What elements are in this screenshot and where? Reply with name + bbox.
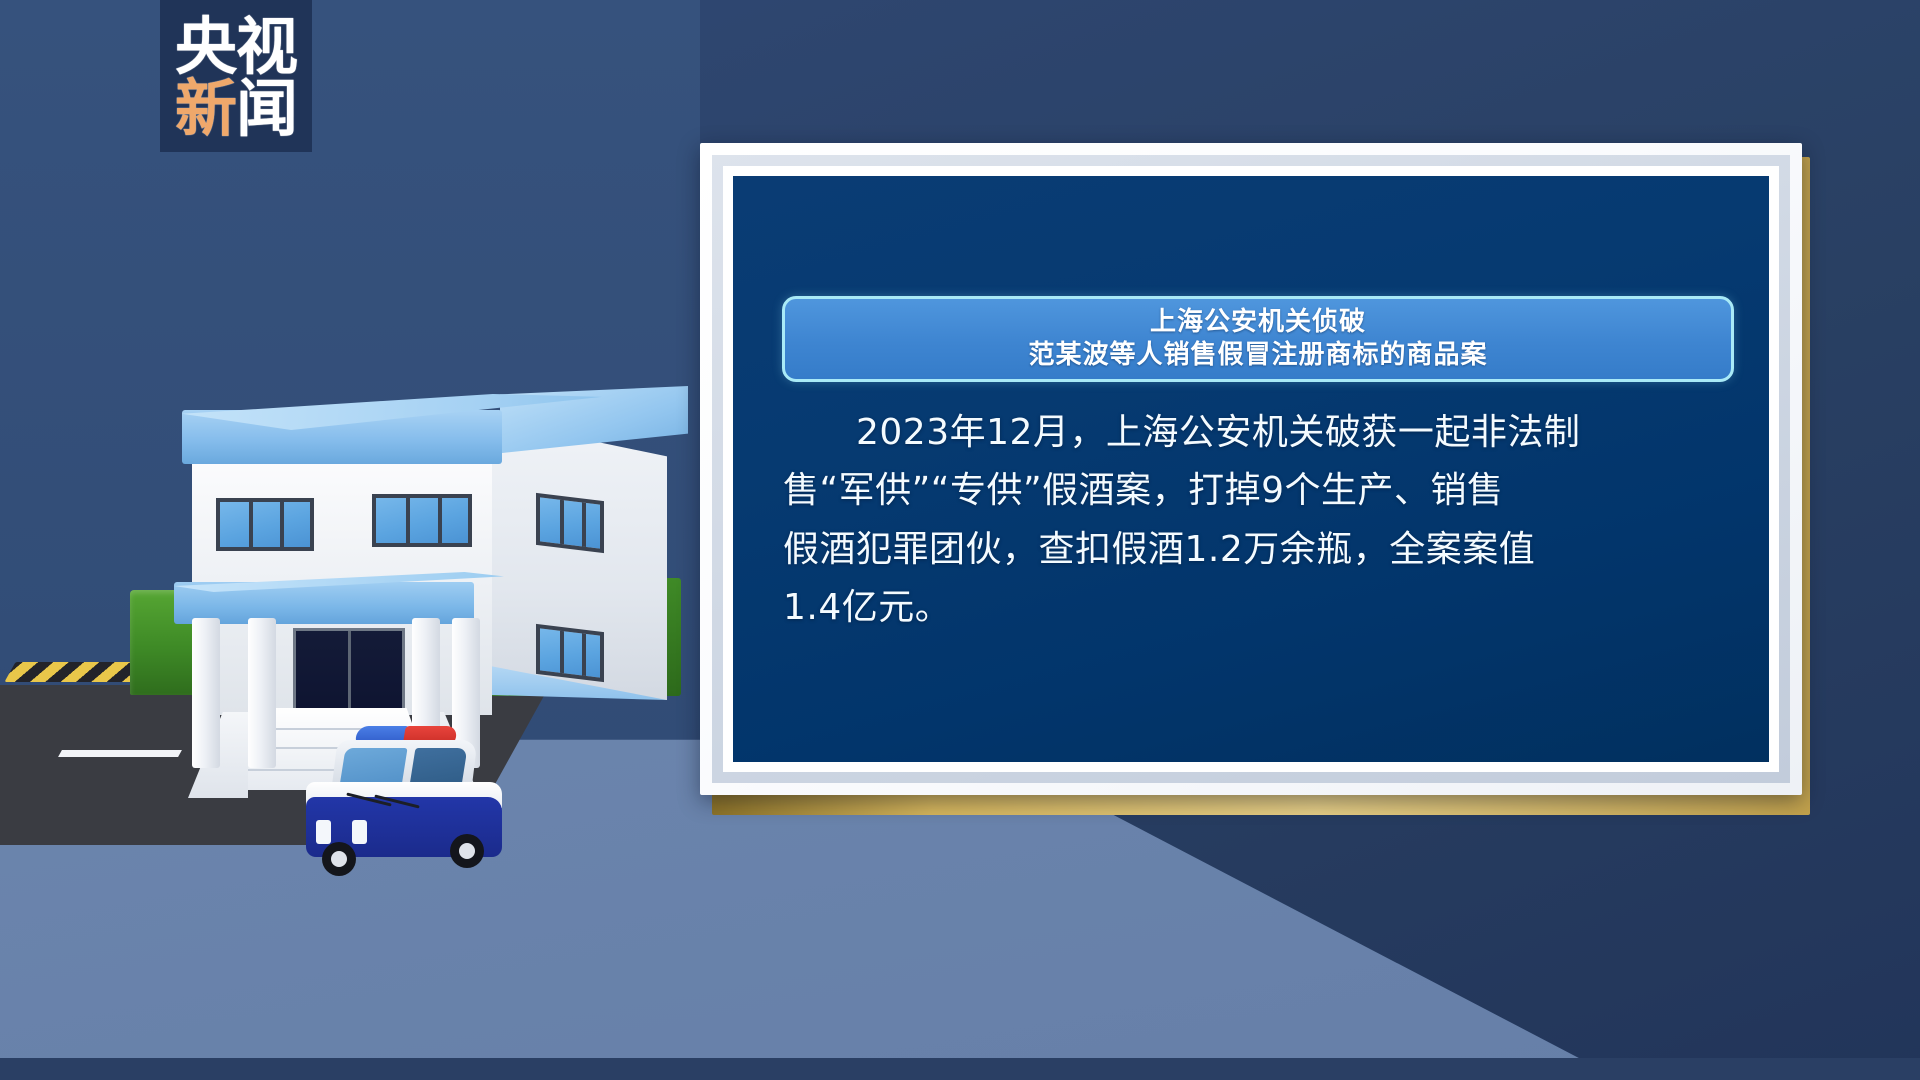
case-body-line: 1.4亿元。 <box>783 579 1743 637</box>
case-title-line-2: 范某波等人销售假冒注册商标的商品案 <box>1028 339 1487 372</box>
window-upper-left <box>216 498 314 551</box>
logo-line-1: 央 视 <box>175 16 297 78</box>
case-body-line: 售“军供”“专供”假酒案，打掉9个生产、销售 <box>783 462 1743 520</box>
police-station-illustration <box>130 390 750 890</box>
case-title-banner: 上海公安机关侦破 范某波等人销售假冒注册商标的商品案 <box>782 296 1734 382</box>
case-body-line: 假酒犯罪团伙，查扣假酒1.2万余瓶，全案案值 <box>783 521 1743 579</box>
headlight-left <box>316 820 331 844</box>
broadcast-graphic-stage: 央 视 新 闻 <box>0 0 1920 1080</box>
logo-char-wen: 闻 <box>236 78 297 140</box>
case-body-text: 2023年12月，上海公安机关破获一起非法制 售“军供”“专供”假酒案，打掉9个… <box>783 404 1743 637</box>
logo-char-yang: 央 <box>175 16 236 78</box>
panel-screen: 上海公安机关侦破 范某波等人销售假冒注册商标的商品案 2023年12月，上海公安… <box>733 176 1769 762</box>
pillar-left <box>192 618 220 768</box>
wheel-front <box>322 842 356 876</box>
headlight-right <box>352 820 367 844</box>
panel-frame-mid: 上海公安机关侦破 范某波等人销售假冒注册商标的商品案 2023年12月，上海公安… <box>712 155 1790 783</box>
case-title-line-1: 上海公安机关侦破 <box>1150 306 1366 339</box>
case-body-line: 2023年12月，上海公安机关破获一起非法制 <box>783 404 1743 462</box>
window-side-lower <box>536 624 604 682</box>
police-car <box>298 742 518 877</box>
window-upper-right <box>372 494 472 547</box>
cctv-news-logo: 央 视 新 闻 <box>160 0 312 152</box>
window-side-upper <box>536 493 604 553</box>
background-bottom-strip <box>0 1058 1920 1080</box>
pillar-mid-left <box>248 618 276 768</box>
logo-char-shi: 视 <box>236 16 297 78</box>
panel-frame-inner: 上海公安机关侦破 范某波等人销售假冒注册商标的商品案 2023年12月，上海公安… <box>723 166 1779 772</box>
logo-char-xin: 新 <box>175 78 236 140</box>
logo-line-2: 新 闻 <box>175 78 297 140</box>
panel-frame-outer: 上海公安机关侦破 范某波等人销售假冒注册商标的商品案 2023年12月，上海公安… <box>700 143 1802 795</box>
road-marking <box>58 750 182 757</box>
info-panel: 上海公安机关侦破 范某波等人销售假冒注册商标的商品案 2023年12月，上海公安… <box>700 143 1810 803</box>
wheel-rear <box>450 834 484 868</box>
